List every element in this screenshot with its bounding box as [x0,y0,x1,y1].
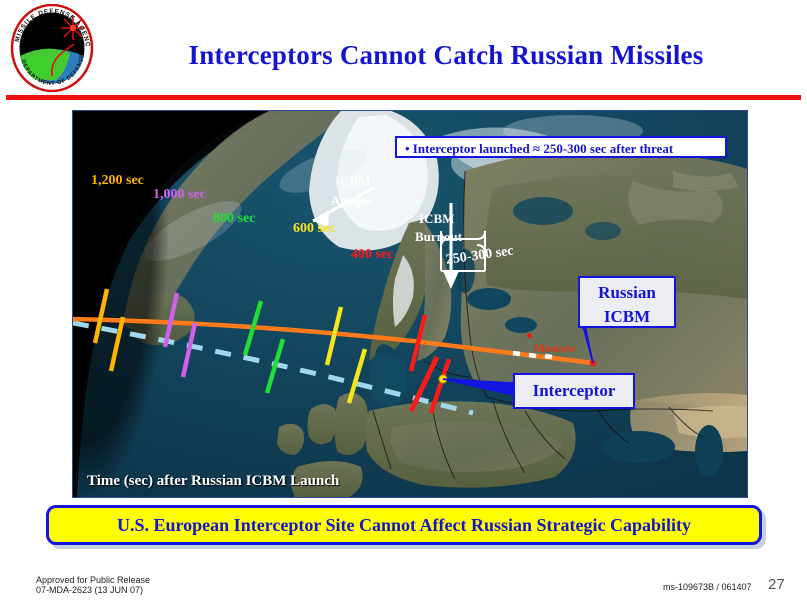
axis-note-label: Time (sec) after Russian ICBM Launch [87,473,339,490]
header-divider-rule [6,95,801,100]
time-marker-label-800: 800 sec [213,211,255,227]
interceptor-launch-callout: • Interceptor launched ≈ 250-300 sec aft… [395,136,727,158]
map-figure: 1,200 sec 1,000 sec 800 sec 600 sec 400 … [72,110,748,498]
icbm-apogee-label-line2: Apogee [331,193,372,208]
time-marker-label-1000: 1,000 sec [153,187,206,203]
document-id: ms-109673B / 061407 [663,582,752,592]
conclusion-banner: U.S. European Interceptor Site Cannot Af… [46,505,762,545]
time-marker-label-600: 600 sec [293,221,335,237]
icbm-apogee-label-line1: ICBM [335,173,370,188]
interceptor-callout: Interceptor [513,373,635,409]
page-title: Interceptors Cannot Catch Russian Missil… [96,40,796,71]
moscow-label: Moscow [534,341,576,356]
mda-seal-logo: MISSILE DEFENSE AGENCY DEPARTMENT OF DEF… [8,4,96,92]
russian-icbm-callout-line2: ICBM [580,305,674,329]
release-statement-line2: 07-MDA-2623 (13 JUN 07) [36,585,143,595]
page-number: 27 [768,576,785,593]
russian-icbm-callout: Russian ICBM [578,276,676,328]
icbm-burnout-label-line1: ICBM [419,211,454,226]
icbm-burnout-label-line2: Burnout [415,229,462,244]
time-marker-label-1200: 1,200 sec [91,173,144,189]
time-marker-label-400: 400 sec [351,247,393,263]
russian-icbm-callout-line1: Russian [580,281,674,305]
release-statement-line1: Approved for Public Release [36,575,150,585]
moscow-marker-dot [527,333,532,338]
